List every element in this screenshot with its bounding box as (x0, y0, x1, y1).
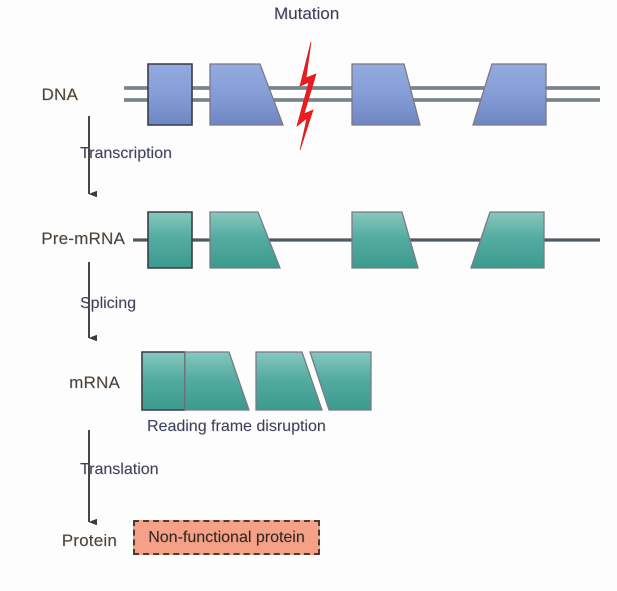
premrna-exon-3 (352, 212, 418, 268)
row-label-protein: Protein (0, 531, 117, 551)
step-label-transcription: Transcription (80, 145, 172, 163)
premrna-exon-4 (471, 212, 544, 268)
mrna-exon-1 (142, 352, 185, 410)
reading-frame-disruption-label: Reading frame disruption (147, 418, 326, 436)
non-functional-protein-box: Non-functional protein (133, 520, 320, 555)
dna-exon-2 (210, 64, 283, 125)
mutation-label: Mutation (274, 4, 339, 24)
mrna-exon-3 (256, 352, 322, 410)
mutation-lightning-bolt-icon (297, 42, 316, 150)
row-label-pre-mrna: Pre-mRNA (0, 229, 125, 249)
dna-exon-1 (148, 64, 192, 125)
premrna-exon-1 (148, 212, 192, 268)
dna-exon-3 (352, 64, 420, 125)
mrna-exons (142, 352, 371, 410)
dna-exon-4 (473, 64, 546, 125)
non-functional-protein-label: Non-functional protein (148, 529, 305, 547)
step-label-translation: Translation (80, 461, 159, 479)
premrna-exon-2 (210, 212, 280, 268)
mrna-exon-2 (185, 352, 249, 410)
splicing-mutation-diagram: Mutation DNA Pre-mRNA mRNA Protein Trans… (0, 0, 617, 591)
step-label-splicing: Splicing (80, 295, 136, 313)
row-label-dna: DNA (0, 85, 78, 105)
dna-exons (148, 64, 546, 125)
row-label-mrna: mRNA (0, 373, 120, 393)
